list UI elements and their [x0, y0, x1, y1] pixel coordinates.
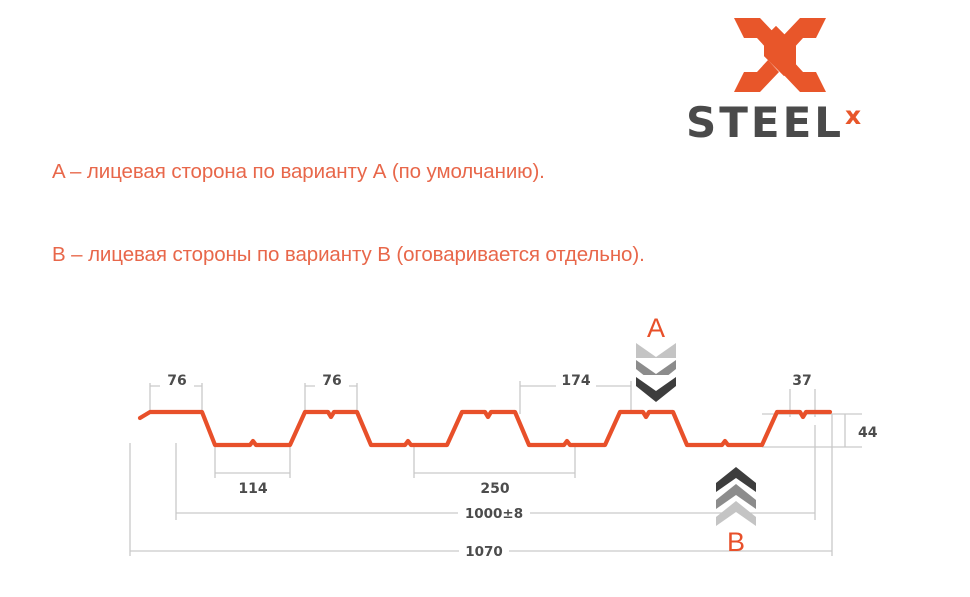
chevron-up-triple-icon: [716, 467, 756, 528]
dimension-label-114: 114: [238, 481, 267, 497]
dimension-label-37: 37: [792, 373, 811, 389]
chevron-down-triple-icon: [636, 341, 676, 402]
dimension-label-250: 250: [480, 481, 509, 497]
dimension-label-76-a: 76: [167, 373, 186, 389]
marker-b-label: B: [727, 527, 745, 557]
marker-a: A: [636, 313, 676, 402]
profile-technical-drawing: 76 76 114 250 174 37 44 1000±8 1070 A: [0, 0, 970, 597]
corrugated-profile-path: [140, 412, 830, 445]
dimension-label-76-b: 76: [322, 373, 341, 389]
dimension-label-44: 44: [858, 425, 878, 441]
marker-b: B: [716, 467, 756, 557]
dimension-witness-lines: [130, 381, 862, 556]
marker-a-label: A: [647, 313, 665, 343]
dimension-label-1000: 1000±8: [465, 506, 523, 522]
dimension-label-174: 174: [561, 373, 590, 389]
dimension-label-1070: 1070: [465, 544, 503, 560]
